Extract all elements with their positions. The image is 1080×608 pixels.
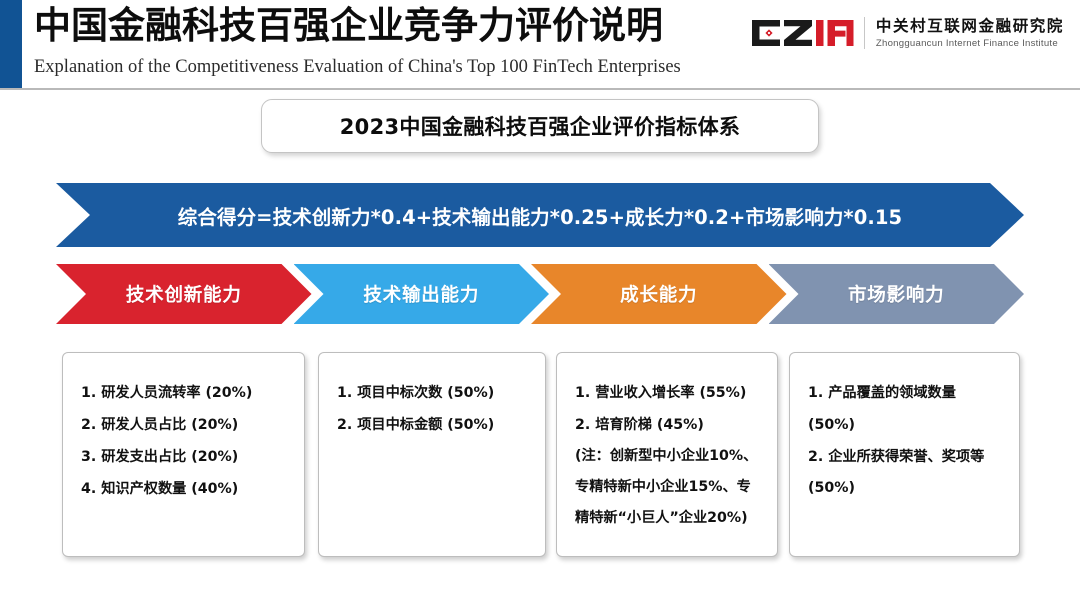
dimension-chevron-1: 技术创新能力 [56,264,312,324]
dimension-card-item: 3. 研发支出占比 (20%) [81,441,290,473]
dimension-chevron-3: 成长能力 [531,264,787,324]
dimension-chevron-4: 市场影响力 [769,264,1025,324]
dimension-chevron-2: 技术输出能力 [294,264,550,324]
dimension-chevron-row: 技术创新能力技术输出能力成长能力市场影响力 [56,264,1024,324]
page-header: 中国金融科技百强企业竞争力评价说明 Explanation of the Com… [0,0,1080,92]
dimension-chevron-label: 技术创新能力 [126,281,242,307]
dimension-card-2: 1. 项目中标次数 (50%)2. 项目中标金额 (50%) [318,352,546,557]
indicator-system-title: 2023中国金融科技百强企业评价指标体系 [340,111,740,141]
page-title: 中国金融科技百强企业竞争力评价说明 [34,3,663,49]
dimension-card-item: (注：创新型中小企业10%、 [575,441,763,472]
dimension-card-item: 专精特新中小企业15%、专 [575,472,763,503]
organization-logo: 中关村互联网金融研究院 Zhongguancun Internet Financ… [750,10,1064,56]
dimension-card-4: 1. 产品覆盖的领域数量 (50%)2. 企业所获得荣誉、奖项等(50%) [789,352,1020,557]
dimension-chevron-label: 技术输出能力 [363,281,479,307]
dimension-card-1: 1. 研发人员流转率 (20%)2. 研发人员占比 (20%)3. 研发支出占比… [62,352,305,557]
logo-divider [864,17,865,49]
logo-name-en: Zhongguancun Internet Finance Institute [876,37,1064,50]
dimension-card-item: 1. 营业收入增长率 (55%) [575,377,763,409]
logo-name-cn: 中关村互联网金融研究院 [876,17,1064,36]
dimension-card-item: 1. 项目中标次数 (50%) [337,377,531,409]
composite-score-formula-text: 综合得分=技术创新力*0.4+技术输出能力*0.25+成长力*0.2+市场影响力… [178,201,902,230]
dimension-card-item: 4. 知识产权数量 (40%) [81,473,290,505]
dimension-card-item: 2. 企业所获得荣誉、奖项等 [808,441,1005,473]
czifi-logo-icon [750,18,854,48]
indicator-system-title-box: 2023中国金融科技百强企业评价指标体系 [261,99,819,153]
header-accent-bar [0,0,22,88]
dimension-card-item: 2. 培育阶梯 (45%) [575,409,763,441]
dimension-card-3: 1. 营业收入增长率 (55%)2. 培育阶梯 (45%)(注：创新型中小企业1… [556,352,778,557]
dimension-card-row: 1. 研发人员流转率 (20%)2. 研发人员占比 (20%)3. 研发支出占比… [0,352,1080,562]
logo-wordmark: 中关村互联网金融研究院 Zhongguancun Internet Financ… [876,17,1064,50]
dimension-card-item: (50%) [808,473,1005,504]
dimension-card-item: 2. 研发人员占比 (20%) [81,409,290,441]
dimension-card-item: 1. 研发人员流转率 (20%) [81,377,290,409]
dimension-chevron-label: 市场影响力 [848,281,945,307]
header-divider [0,88,1080,90]
dimension-card-item: 1. 产品覆盖的领域数量 (50%) [808,377,1005,441]
page-subtitle: Explanation of the Competitiveness Evalu… [34,55,681,79]
dimension-card-item: 精特新“小巨人”企业20%) [575,503,763,534]
dimension-card-item: 2. 项目中标金额 (50%) [337,409,531,441]
dimension-chevron-label: 成长能力 [620,281,697,307]
composite-score-formula-banner: 综合得分=技术创新力*0.4+技术输出能力*0.25+成长力*0.2+市场影响力… [56,183,1024,247]
